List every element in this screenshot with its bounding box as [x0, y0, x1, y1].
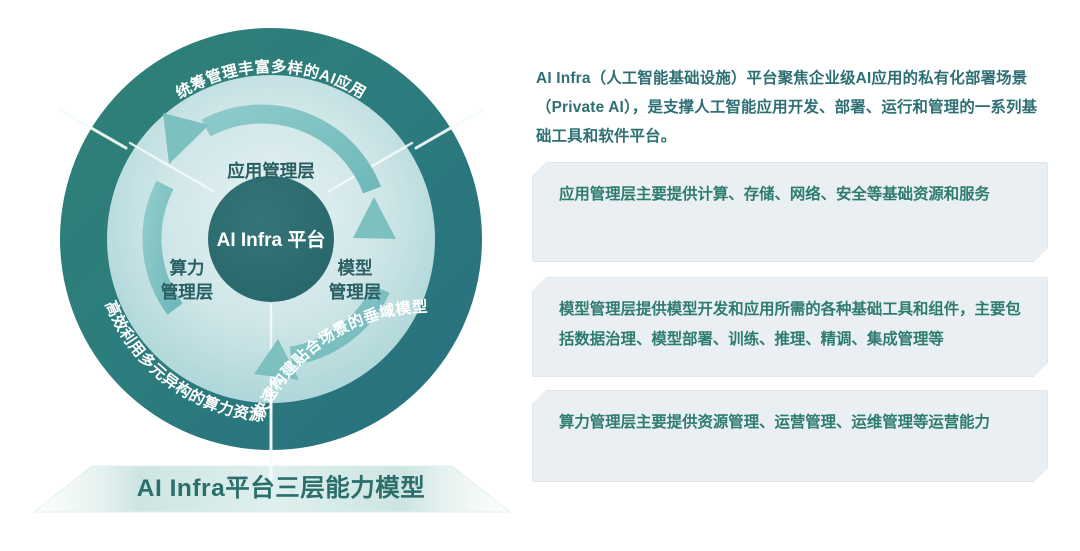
- diagram-panel: AI Infra 平台 应用管理层 模型 管理层 算力 管理层 统筹管理丰富多样…: [0, 0, 520, 551]
- card-model-management: 模型管理层提供模型开发和应用所需的各种基础工具和组件，主要包括数据治理、模型部署…: [532, 277, 1048, 377]
- intro-paragraph: AI Infra（人工智能基础设施）平台聚焦企业级AI应用的私有化部署场景（Pr…: [536, 64, 1044, 151]
- svg-text:算力: 算力: [169, 258, 205, 278]
- svg-text:管理层: 管理层: [329, 282, 382, 302]
- svg-text:模型: 模型: [338, 258, 373, 278]
- core-label: AI Infra 平台: [217, 228, 326, 251]
- capability-model-diagram: AI Infra 平台 应用管理层 模型 管理层 算力 管理层 统筹管理丰富多样…: [0, 0, 520, 551]
- content-panel: AI Infra（人工智能基础设施）平台聚焦企业级AI应用的私有化部署场景（Pr…: [528, 0, 1080, 551]
- layer-label-application: 应用管理层: [227, 161, 315, 181]
- card-compute-management: 算力管理层主要提供资源管理、运营管理、运维管理等运营能力: [532, 390, 1048, 482]
- svg-text:管理层: 管理层: [161, 282, 214, 302]
- card-application-management: 应用管理层主要提供计算、存储、网络、安全等基础资源和服务: [532, 162, 1048, 262]
- banner-title: AI Infra平台三层能力模型: [137, 473, 425, 502]
